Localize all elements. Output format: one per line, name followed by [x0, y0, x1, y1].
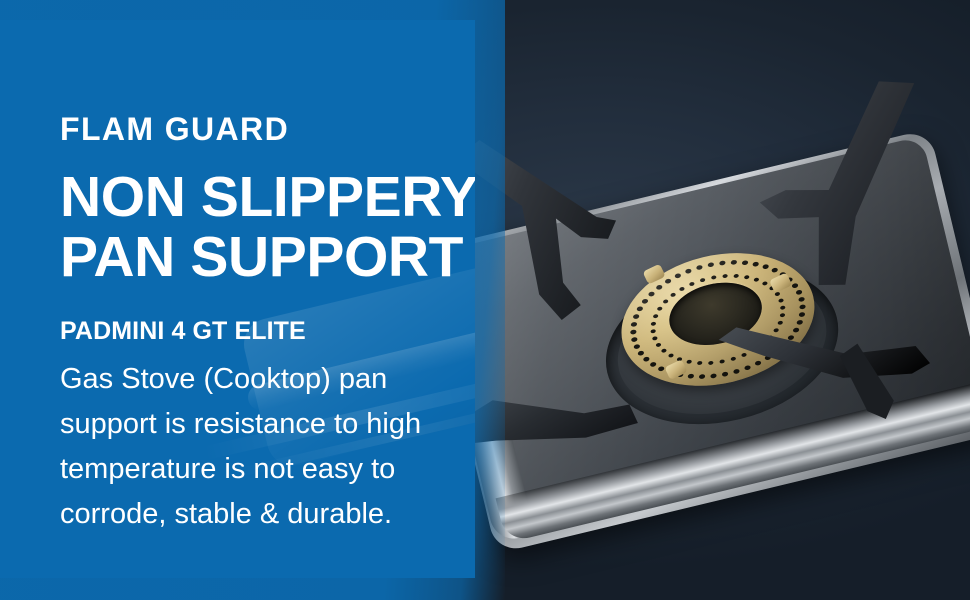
- model-name: PADMINI 4 GT ELITE: [60, 288, 460, 346]
- brand-eyebrow: FLAM GUARD: [60, 20, 460, 145]
- description-line: corrode, stable & durable.: [60, 492, 455, 537]
- product-description: Gas Stove (Cooktop) pan support is resis…: [60, 345, 455, 537]
- banner-copy: FLAM GUARD NON SLIPPERY PAN SUPPORT PADM…: [60, 20, 460, 537]
- description-line: temperature is not easy to: [60, 447, 455, 492]
- blue-content-panel: FLAM GUARD NON SLIPPERY PAN SUPPORT PADM…: [0, 20, 475, 578]
- page-title: NON SLIPPERY PAN SUPPORT: [60, 145, 460, 288]
- headline-line-2: PAN SUPPORT: [60, 227, 460, 287]
- model-brand: PADMINI: [60, 317, 164, 345]
- description-line: support is resistance to high: [60, 402, 455, 447]
- description-line: Gas Stove (Cooktop) pan: [60, 357, 455, 402]
- product-banner: FLAM GUARD NON SLIPPERY PAN SUPPORT PADM…: [0, 0, 970, 600]
- gas-stove-assembly: [424, 129, 970, 571]
- model-variant: 4 GT ELITE: [164, 317, 305, 345]
- headline-line-1: NON SLIPPERY: [60, 167, 460, 227]
